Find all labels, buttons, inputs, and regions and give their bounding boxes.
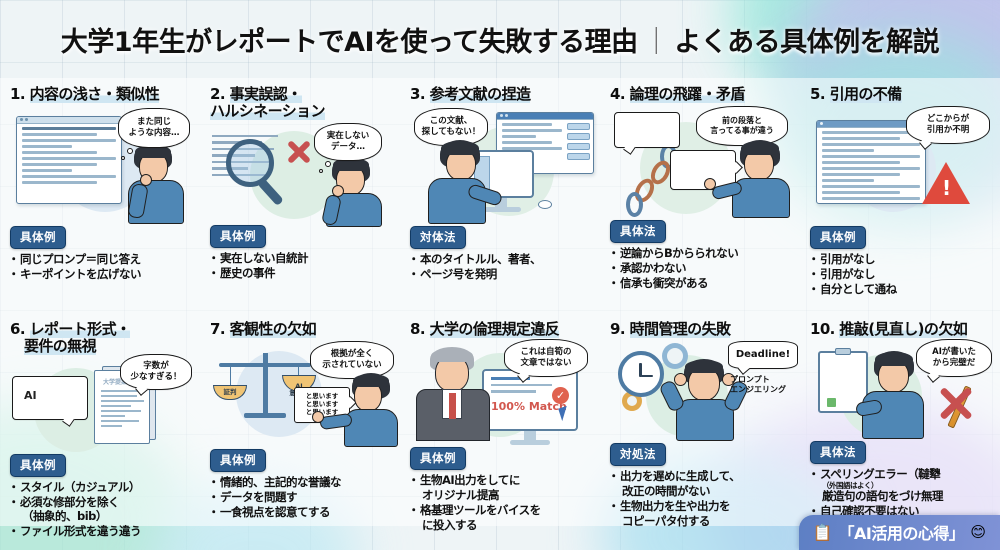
- card-9-thought-bubble: Deadline!: [728, 341, 798, 369]
- list-item: 引用がなし: [810, 252, 992, 267]
- card-1-number: 1.: [10, 85, 25, 103]
- list-item: キーポイントを広げない: [10, 267, 192, 282]
- card-4-person-illustration: [728, 140, 796, 218]
- card-6-title: 6. レポート形式・ 要件の無視: [10, 321, 192, 355]
- warning-triangle-icon: [922, 162, 970, 204]
- list-item: 生物出力を生や出力を: [610, 499, 792, 514]
- card-2-bullets: 実在しない自統計 歴史の事件: [210, 251, 392, 281]
- list-item: 改正の時間がない: [610, 484, 792, 499]
- list-item: オリジナル提高: [410, 488, 592, 503]
- card-7-illustration: 証判 AI 意見堂 根拠が全く 示されていない と思います と思います と思いま…: [210, 341, 392, 447]
- card-2-title-line-2: ハルシネーション: [210, 102, 325, 120]
- list-item: スタイル（カジュアル）: [10, 480, 192, 495]
- card-8-badge: 具体例: [410, 447, 466, 470]
- list-item: 本のタイトルル、著者、: [410, 252, 592, 267]
- card-4-bubble-text: 前の段落と 言ってる事が違う: [710, 116, 774, 136]
- list-item: 生物AI出力をしてに: [410, 473, 592, 488]
- card-7-bullets: 情緒的、主記的な誉議な データを問題す 一食視点を認意てする: [210, 475, 392, 520]
- smiling-face-icon: 😊: [970, 523, 986, 541]
- clock-icon: [618, 351, 664, 397]
- list-item: ページ号を発明: [410, 267, 592, 282]
- card-9[interactable]: 9. 時間管理の失敗 Deadline!: [600, 315, 800, 550]
- card-1-title: 1. 内容の浅さ・類似性: [10, 86, 192, 103]
- card-2-person-illustration: [318, 157, 388, 225]
- card-9-title-line-1: 時間管理の失敗: [630, 320, 731, 338]
- card-10-bubble-text: AIが書いた から完璧だ: [932, 347, 976, 368]
- card-3-bullets: 本のタイトルル、著者、 ページ号を発明: [410, 252, 592, 282]
- list-item: 自分として通ね: [810, 282, 992, 297]
- card-4-badge: 具体法: [610, 220, 666, 243]
- red-x-icon: [938, 385, 974, 421]
- card-5-number: 5.: [810, 85, 825, 103]
- card-4-bullets: 逆論からBからられない 承認かわない 信承も衝突がある: [610, 246, 792, 291]
- window-titlebar: [17, 117, 121, 124]
- list-item: に投入する: [410, 518, 592, 533]
- card-10-thought-bubble: AIが書いた から完璧だ: [916, 339, 992, 377]
- card-5-bubble-text: どこからが 引用か不明: [927, 114, 970, 135]
- card-4-number: 4.: [610, 85, 625, 103]
- card-5-bullets: 引用がなし 引用がなし 自分として通ね: [810, 252, 992, 297]
- card-6-ai-doc-bubble: AI: [12, 376, 88, 420]
- card-3-badge: 対体法: [410, 226, 466, 249]
- clipboard-pencil-icon: 📋: [813, 523, 833, 542]
- card-1[interactable]: 1. 内容の浅さ・類似性 また同じ ような内容…: [0, 80, 200, 315]
- check-circle-icon: ✓: [552, 387, 569, 404]
- card-7-person-illustration: [342, 373, 400, 447]
- card-2[interactable]: 2. 事実誤認・ ハルシネーション 実在しない: [200, 80, 400, 315]
- list-item: 必須な修部分を除く: [10, 495, 192, 510]
- list-item: スペリングエラー（韃犩: [810, 467, 992, 482]
- cards-grid: 1. 内容の浅さ・類似性 また同じ ような内容…: [0, 80, 1000, 550]
- card-2-thought-bubble: 実在しない データ…: [314, 123, 382, 161]
- list-item: データを問題す: [210, 490, 392, 505]
- card-6-bubble-text: 字数が 少なすぎる！: [130, 361, 181, 382]
- list-item: コピーパタ付する: [610, 514, 792, 529]
- card-7-title: 7. 客観性の欠如: [210, 321, 392, 338]
- card-9-bullets: 出力を遅めに生成して、 改正の時間がない 生物出力を生や出力を コピーパタ付する: [610, 469, 792, 529]
- scale-pan-left: 証判: [213, 385, 247, 400]
- card-2-badge: 具体例: [210, 225, 266, 248]
- card-6[interactable]: 6. レポート形式・ 要件の無視 AI 大学提案: [0, 315, 200, 550]
- card-2-title-line-1: 事実誤認・: [230, 85, 302, 103]
- page-title-main: 大学1年生がレポートでAIを使って失敗する理由: [61, 27, 638, 58]
- list-item: 信承も衝突がある: [610, 276, 792, 291]
- card-6-badge: 具体例: [10, 454, 66, 477]
- card-7-bubble-text: 根拠が全く 示されていない: [322, 349, 381, 370]
- footer-banner[interactable]: 📋 「AI活用の心得」 😊: [799, 515, 1000, 550]
- card-6-doc-label: AI: [24, 389, 82, 402]
- card-8-bullets: 生物AI出力をしてに オリジナル提高 格基理ツールをバイスを に投入する: [410, 473, 592, 533]
- card-2-number: 2.: [210, 85, 225, 103]
- card-5-title: 5. 引用の不備: [810, 86, 992, 103]
- card-7-title-line-1: 客観性の欠如: [230, 320, 316, 338]
- card-6-bullets: スタイル（カジュアル） 必須な修部分を除く （抽象的、bib） ファイル形式を違…: [10, 480, 192, 540]
- card-3[interactable]: 3. 参考文献の捏造: [400, 80, 600, 315]
- list-item: （抽象的、bib）: [10, 509, 192, 524]
- page-title: 大学1年生がレポートでAIを使って失敗する理由｜よくある具体例を解説: [61, 20, 939, 59]
- card-9-stressed-person: [666, 359, 744, 441]
- card-8-illustration: 100% Match ✓ これは自筍の 文章ではない: [410, 341, 592, 445]
- card-8-thought-bubble: これは自筍の 文章ではない: [504, 339, 588, 377]
- page-title-sub: よくある具体例を解説: [674, 27, 939, 58]
- card-9-number: 9.: [610, 320, 625, 338]
- list-item-annotation: （外国語はよく）: [810, 482, 992, 490]
- list-item: 歴史の事件: [210, 266, 392, 281]
- document-window-icon: [16, 116, 122, 204]
- list-item: 逆論からBからられない: [610, 246, 792, 261]
- card-1-badge: 具体例: [10, 226, 66, 249]
- card-8-title: 8. 大学の倫理規定違反: [410, 321, 592, 338]
- card-5-title-line-1: 引用の不備: [830, 85, 902, 103]
- card-6-thought-bubble: 字数が 少なすぎる！: [120, 354, 192, 390]
- card-8-bubble-text: これは自筍の 文章ではない: [520, 347, 571, 368]
- card-6-title-line-1: レポート形式・: [30, 320, 131, 338]
- list-item: 同じプロンプ＝同じ答え: [10, 252, 192, 267]
- card-8[interactable]: 8. 大学の倫理規定違反 100% Match ✓: [400, 315, 600, 550]
- card-8-number: 8.: [410, 320, 425, 338]
- card-10-number: 10.: [810, 320, 835, 338]
- card-4[interactable]: 4. 論理の飛躍・矛盾 前の段落と 言ってる事が違う: [600, 80, 800, 315]
- list-item: ファイル形式を違う違う: [10, 524, 192, 539]
- card-9-side-note: プロンプト エンジエリング: [730, 375, 786, 396]
- title-separator: ｜: [638, 27, 675, 58]
- card-2-bubble-text: 実在しない データ…: [327, 131, 370, 152]
- card-1-illustration: また同じ ような内容…: [10, 106, 192, 224]
- red-x-icon: [286, 139, 312, 165]
- card-6-illustration: AI 大学提案 字数が 少なすぎる！: [10, 358, 192, 452]
- card-10-title: 10. 推敲(見直し)の欠如: [810, 321, 992, 338]
- card-10-title-line-1: 推敲(見直し)の欠如: [839, 320, 967, 338]
- card-1-title-line-1: 内容の浅さ・類似性: [30, 85, 160, 103]
- card-9-badge: 対処法: [610, 443, 666, 466]
- card-4-title-line-1: 論理の飛躍・矛盾: [630, 85, 745, 103]
- card-1-person-illustration: [120, 144, 192, 224]
- card-7-number: 7.: [210, 320, 225, 338]
- professor-illustration: [416, 347, 494, 439]
- card-3-title-line-1: 参考文献の捏造: [430, 85, 531, 103]
- card-9-illustration: Deadline! プロンプト エンジエリング: [610, 341, 792, 441]
- page-header: 大学1年生がレポートでAIを使って失敗する理由｜よくある具体例を解説: [0, 0, 1000, 78]
- list-item: 出力を遅めに生成して、: [610, 469, 792, 484]
- card-7[interactable]: 7. 客観性の欠如 証判 AI 意見堂 根拠が全く 示されていない: [200, 315, 400, 550]
- card-4-doc-bubble-top: [614, 112, 680, 148]
- card-3-title: 3. 参考文献の捏造: [410, 86, 592, 103]
- scale-left-label: 証判: [224, 388, 237, 396]
- card-4-illustration: 前の段落と 言ってる事が違う: [610, 106, 792, 218]
- card-5-thought-bubble: どこからが 引用か不明: [906, 106, 990, 144]
- card-4-title: 4. 論理の飛躍・矛盾: [610, 86, 792, 103]
- card-9-title: 9. 時間管理の失敗: [610, 321, 792, 338]
- list-item: 承認かわない: [610, 261, 792, 276]
- card-5[interactable]: 5. 引用の不備 どこからが 引用か不明 具体例 引用がなし 引用がなし 自分と…: [800, 80, 1000, 315]
- list-item: 実在しない自統計: [210, 251, 392, 266]
- list-item: 引用がなし: [810, 267, 992, 282]
- card-3-person-illustration: [424, 140, 494, 224]
- footer-label: 「AI活用の心得」: [839, 520, 965, 544]
- window-titlebar: [497, 113, 593, 120]
- list-item: 情緒的、主記的な誉議な: [210, 475, 392, 490]
- card-3-number: 3.: [410, 85, 425, 103]
- card-9-bubble-text: Deadline!: [736, 349, 790, 361]
- card-7-badge: 具体例: [210, 449, 266, 472]
- list-item: 一食視点を認意てする: [210, 505, 392, 520]
- card-6-number: 6.: [10, 320, 25, 338]
- list-item: 厳造句の語句をづけ無理: [810, 489, 992, 504]
- card-1-bubble-text: また同じ ような内容…: [128, 117, 179, 138]
- magnifier-icon: [226, 139, 274, 187]
- card-3-illustration: この文献、 探してもない！: [410, 106, 592, 224]
- card-2-title: 2. 事実誤認・ ハルシネーション: [210, 86, 392, 120]
- card-1-bullets: 同じプロンプ＝同じ答え キーポイントを広げない: [10, 252, 192, 282]
- card-2-illustration: 実在しない データ…: [210, 123, 392, 223]
- card-10-badge: 具体法: [810, 441, 866, 464]
- monitor-icon: 100% Match ✓: [482, 369, 578, 431]
- card-10-bullets: スペリングエラー（韃犩 （外国語はよく） 厳造句の語句をづけ無理 自己確認不要は…: [810, 467, 992, 519]
- card-8-title-line-1: 大学の倫理規定違反: [430, 320, 560, 338]
- card-5-illustration: どこからが 引用か不明: [810, 106, 992, 224]
- list-item: 格基理ツールをバイスを: [410, 503, 592, 518]
- card-5-badge: 具体例: [810, 226, 866, 249]
- card-10-illustration: AIが書いた から完璧だ: [810, 341, 992, 439]
- card-6-title-line-2: 要件の無視: [24, 337, 96, 355]
- mouse-icon: [538, 200, 552, 209]
- card-1-thought-bubble: また同じ ような内容…: [118, 108, 190, 148]
- card-3-bubble-text: この文献、 探してもない！: [422, 116, 481, 137]
